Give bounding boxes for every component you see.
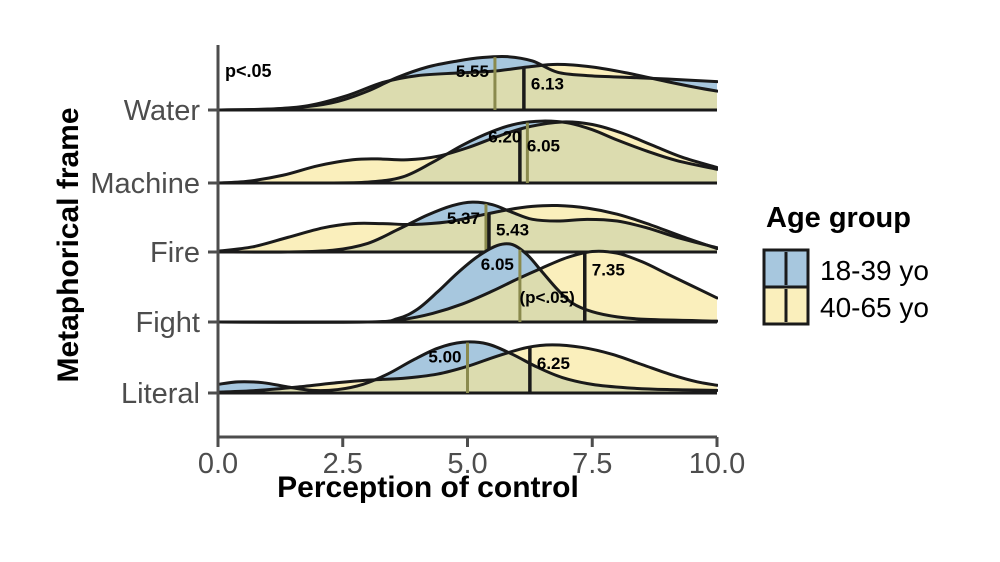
mean-label-18-39-literal: 5.00 [428, 348, 461, 367]
mean-label-18-39-machine: 6.20 [488, 128, 521, 147]
mean-label-18-39-water: 5.55 [456, 62, 489, 81]
mean-label-40-65-fight: 7.35 [592, 260, 625, 279]
ridgeline-chart-svg: 5.556.136.206.055.375.436.057.35(p<.05)5… [0, 0, 1000, 562]
mean-label-40-65-machine: 6.05 [527, 136, 560, 155]
y-tick-label-fight: Fight [136, 307, 200, 339]
mean-label-40-65-water: 6.13 [531, 74, 564, 93]
y-tick-label-literal: Literal [121, 378, 200, 410]
legend-label-18-39: 18-39 yo [820, 255, 929, 286]
y-tick-label-fire: Fire [150, 237, 200, 269]
mean-label-18-39-fire: 5.37 [447, 209, 480, 228]
legend-title: Age group [766, 202, 911, 234]
legend-item-18-39[interactable]: 18-39 yo [764, 250, 929, 287]
legend-item-40-65[interactable]: 40-65 yo [764, 287, 929, 324]
x-axis-title: Perception of control [277, 471, 579, 504]
x-tick-label-0: 0.0 [198, 448, 238, 480]
x-tick-label-4: 10.0 [689, 448, 745, 480]
ridgeline-chart-root: 5.556.136.206.055.375.436.057.35(p<.05)5… [0, 0, 1000, 562]
mean-label-18-39-fight: 6.05 [481, 255, 514, 274]
legend-label-40-65: 40-65 yo [820, 292, 929, 323]
water-significance-annotation: p<.05 [225, 61, 272, 81]
legend: Age group 18-39 yo 40-65 yo [764, 202, 929, 324]
mean-label-40-65-fire: 5.43 [496, 221, 529, 240]
mean-label-40-65-literal: 6.25 [537, 354, 570, 373]
y-tick-label-machine: Machine [90, 168, 200, 200]
inline-significance-annotation-fight: (p<.05) [519, 288, 574, 307]
y-tick-label-water: Water [124, 95, 201, 127]
y-axis-title: Metaphorical frame [52, 107, 85, 382]
